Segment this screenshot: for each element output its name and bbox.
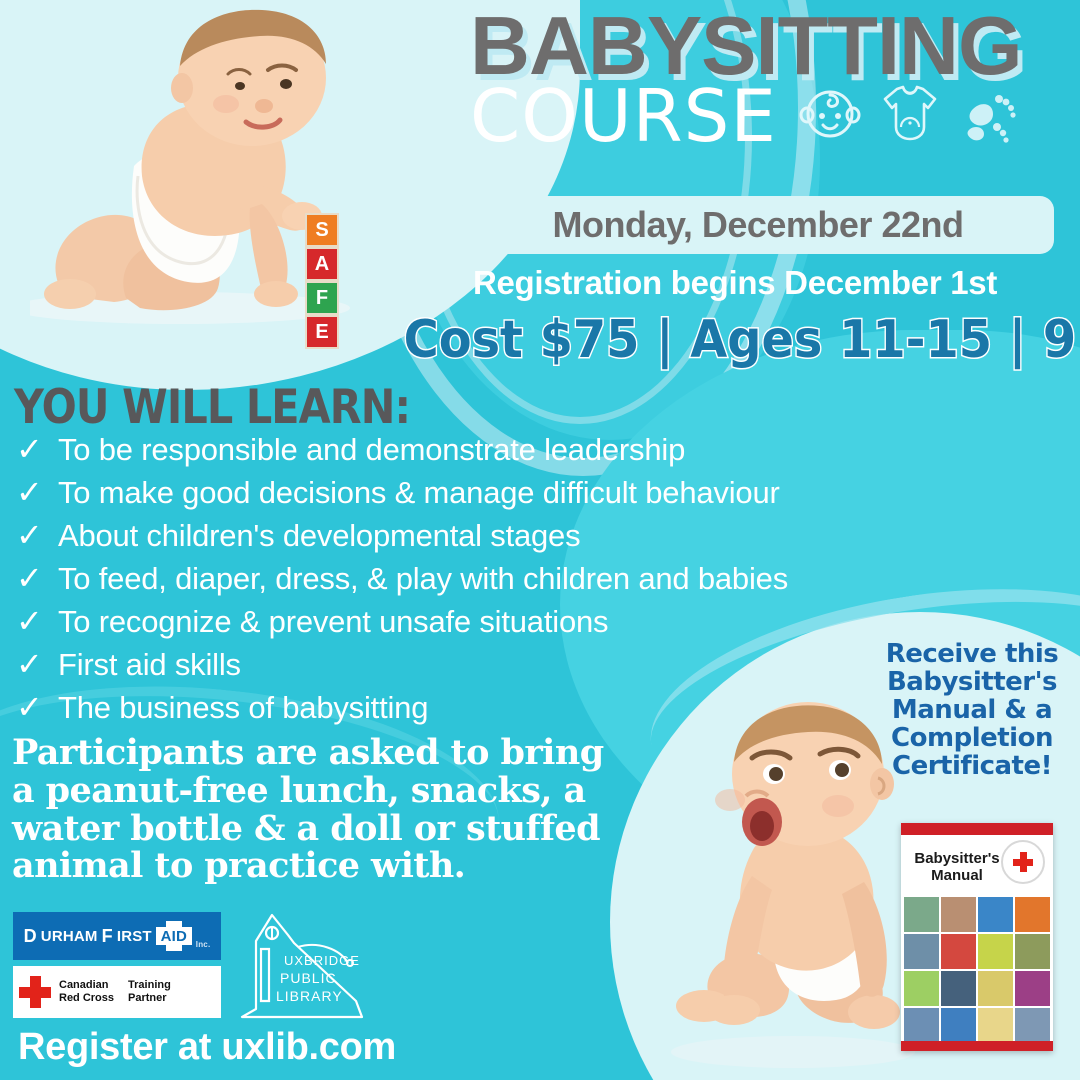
book-photo-collage xyxy=(901,897,1053,1043)
learn-list: ✓ To be responsible and demonstrate lead… xyxy=(16,432,946,733)
durham-word-irst: IRST xyxy=(117,928,152,945)
book-header: Babysitter's Manual xyxy=(901,835,1053,897)
durham-first-aid-logo: DURHAM FIRST AID Inc. xyxy=(13,912,221,960)
registration-start-text: Registration begins December 1st xyxy=(410,264,1060,302)
collage-cell xyxy=(904,897,976,969)
red-cross-line2: Red Cross xyxy=(59,992,114,1005)
poster-header: BABYSITTING COURSE xyxy=(470,8,1070,152)
list-item: ✓ To be responsible and demonstrate lead… xyxy=(16,432,946,475)
red-cross-name: Canadian Red Cross xyxy=(59,979,114,1004)
receive-manual-note: Receive this Babysitter's Manual & a Com… xyxy=(872,640,1072,780)
durham-inc-suffix: Inc. xyxy=(196,940,211,949)
page-title: BABYSITTING xyxy=(470,8,1070,84)
safe-blocks: S A F E xyxy=(305,213,339,349)
collage-swatch xyxy=(978,1008,1013,1043)
durham-word-d: D xyxy=(24,926,37,947)
course-date-banner: Monday, December 22nd xyxy=(462,196,1054,254)
list-item: ✓ To make good decisions & manage diffic… xyxy=(16,475,946,518)
block-s: S xyxy=(305,213,339,247)
block-e: E xyxy=(305,315,339,349)
page-subtitle: COURSE xyxy=(470,80,777,152)
canadian-red-cross-logo: Canadian Red Cross Training Partner xyxy=(13,966,221,1018)
list-item: ✓ To recognize & prevent unsafe situatio… xyxy=(16,604,946,647)
training-partner-label: Training Partner xyxy=(128,979,171,1004)
list-item-label: About children's developmental stages xyxy=(58,518,580,554)
book-title: Babysitter's Manual xyxy=(909,851,1005,885)
collage-swatch xyxy=(904,971,939,1006)
check-icon: ✓ xyxy=(16,519,42,551)
aid-label: AID xyxy=(161,928,187,945)
learn-heading: YOU WILL LEARN: xyxy=(14,380,410,435)
aid-cross-badge-icon: AID xyxy=(156,921,192,951)
collage-swatch xyxy=(978,934,1013,969)
collage-swatch xyxy=(941,1008,976,1043)
list-item-label: To recognize & prevent unsafe situations xyxy=(58,604,608,640)
check-icon: ✓ xyxy=(16,691,42,723)
collage-swatch xyxy=(941,897,976,932)
block-f: F xyxy=(305,281,339,315)
red-cross-shape xyxy=(1013,852,1033,872)
durham-logo-text: DURHAM FIRST AID Inc. xyxy=(24,921,211,951)
check-icon: ✓ xyxy=(16,433,42,465)
collage-swatch xyxy=(978,897,1013,932)
list-item: ✓ To feed, diaper, dress, & play with ch… xyxy=(16,561,946,604)
list-item-label: First aid skills xyxy=(58,647,241,683)
training-partner-line2: Partner xyxy=(128,992,171,1005)
header-icon-group xyxy=(799,83,1021,150)
collage-swatch xyxy=(1015,934,1050,969)
block-a: A xyxy=(305,247,339,281)
library-line3: LIBRARY xyxy=(276,988,343,1004)
check-icon: ✓ xyxy=(16,605,42,637)
participants-note: Participants are asked to bring a peanut… xyxy=(12,734,632,885)
collage-swatch xyxy=(904,934,939,969)
durham-word-urham: URHAM xyxy=(41,928,98,945)
collage-swatch xyxy=(904,897,939,932)
collage-swatch xyxy=(941,971,976,1006)
collage-swatch xyxy=(978,971,1013,1006)
collage-swatch xyxy=(1015,897,1050,932)
collage-cell xyxy=(978,971,1050,1043)
check-icon: ✓ xyxy=(16,476,42,508)
title-row-secondary: COURSE xyxy=(470,80,1070,152)
crawling-baby-photo: S A F E xyxy=(30,8,390,328)
list-item-label: The business of babysitting xyxy=(58,690,428,726)
register-cta[interactable]: Register at uxlib.com xyxy=(18,1026,396,1069)
list-item: ✓ First aid skills xyxy=(16,647,946,690)
onesie-icon xyxy=(881,83,939,150)
cost-age-time-line: Cost $75 | Ages 11-15 | 9:30-4:30 xyxy=(404,310,1039,370)
list-item-label: To feed, diaper, dress, & play with chil… xyxy=(58,561,788,597)
footprints-icon xyxy=(959,83,1021,150)
library-line1: UXBRIDGE xyxy=(284,953,360,968)
book-top-bar xyxy=(901,823,1053,835)
durham-word-f: F xyxy=(102,926,113,947)
library-line2: PUBLIC xyxy=(280,970,337,986)
check-icon: ✓ xyxy=(16,648,42,680)
check-icon: ✓ xyxy=(16,562,42,594)
collage-swatch xyxy=(941,934,976,969)
collage-swatch xyxy=(1015,971,1050,1006)
uxbridge-public-library-logo: UXBRIDGE PUBLIC LIBRARY xyxy=(236,905,366,1023)
baby-face-icon xyxy=(799,83,861,150)
book-title-line1: Babysitter's xyxy=(909,851,1005,868)
list-item-label: To be responsible and demonstrate leader… xyxy=(58,432,685,468)
training-partner-line1: Training xyxy=(128,979,171,992)
red-cross-emblem-icon xyxy=(1001,840,1045,884)
red-cross-line1: Canadian xyxy=(59,979,114,992)
book-title-line2: Manual xyxy=(909,868,1005,885)
red-cross-icon xyxy=(19,976,51,1008)
babysitters-manual-book: Babysitter's Manual xyxy=(901,823,1053,1051)
course-date-text: Monday, December 22nd xyxy=(553,204,964,246)
collage-swatch xyxy=(904,1008,939,1043)
list-item-label: To make good decisions & manage difficul… xyxy=(58,475,780,511)
collage-cell xyxy=(978,897,1050,969)
list-item: ✓ About children's developmental stages xyxy=(16,518,946,561)
poster-canvas: S A F E BABYSITTING COURSE xyxy=(0,0,1080,1080)
collage-swatch xyxy=(1015,1008,1050,1043)
collage-cell xyxy=(904,971,976,1043)
book-bottom-bar xyxy=(901,1041,1053,1051)
